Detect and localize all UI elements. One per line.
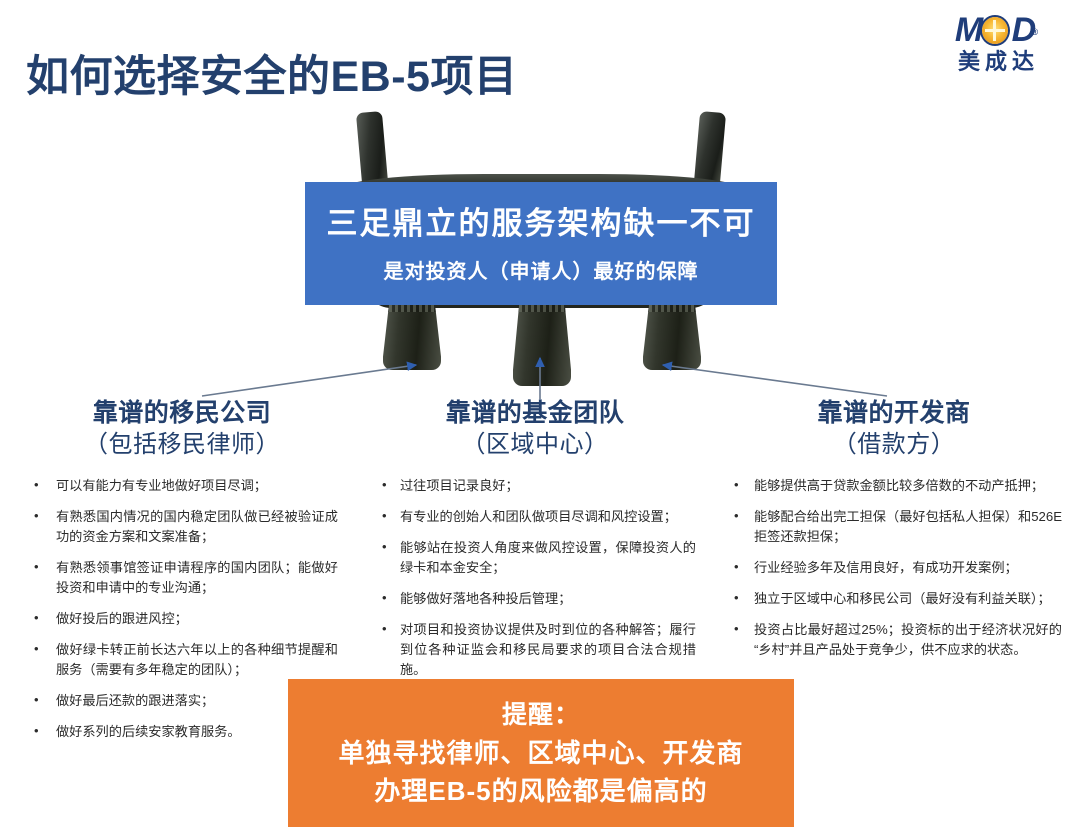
list-item: 行业经验多年及信用良好，有成功开发案例； [726,558,1062,578]
column-3-heading: 靠谱的开发商 （借款方） [726,398,1062,460]
column-1-heading-main: 靠谱的移民公司 [26,398,338,428]
blue-banner: 三足鼎立的服务架构缺一不可 是对投资人（申请人）最好的保障 [305,182,777,305]
list-item: 独立于区域中心和移民公司（最好没有利益关联）； [726,589,1062,609]
callout-line-3: 办理EB-5的风险都是偏高的 [374,772,707,810]
page-title: 如何选择安全的EB-5项目 [26,42,517,104]
list-item: 可以有能力有专业地做好项目尽调； [26,476,338,496]
list-item: 有熟悉领事馆签证申请程序的国内团队；能做好投资和申请中的专业沟通； [26,558,338,598]
list-item: 投资占比最好超过25%；投资标的出于经济状况好的“乡村”并且产品处于竞争少，供不… [726,620,1062,660]
ding-handle-left [356,111,388,185]
column-2-heading: 靠谱的基金团队 （区域中心） [374,398,696,460]
list-item: 能够配合给出完工担保（最好包括私人担保）和526E 拒签还款担保； [726,507,1062,547]
banner-subline: 是对投资人（申请人）最好的保障 [384,255,699,284]
column-3-bullet-list: 能够提供高于贷款金额比较多倍数的不动产抵押； 能够配合给出完工担保（最好包括私人… [726,476,1062,660]
slide-canvas: 如何选择安全的EB-5项目 MOD ® 美成达 三足鼎立的服务架构缺一不可 是对… [0,0,1080,835]
ding-leg-right [643,296,701,370]
callout-line-1: 提醒： [502,696,580,734]
list-item: 能够站在投资人角度来做风控设置，保障投资人的绿卡和本金安全； [374,538,696,578]
ding-leg-left [383,296,441,370]
list-item: 做好投后的跟进风控； [26,609,338,629]
ding-handle-right [694,111,726,185]
ding-leg-center [513,296,571,386]
column-2-heading-main: 靠谱的基金团队 [374,398,696,428]
column-2-heading-sub: （区域中心） [374,430,696,460]
column-2-bullet-list: 过往项目记录良好； 有专业的创始人和团队做项目尽调和风控设置； 能够站在投资人角… [374,476,696,680]
list-item: 过往项目记录良好； [374,476,696,496]
brand-logo: MOD ® 美成达 [926,12,1066,82]
orange-reminder-callout: 提醒： 单独寻找律师、区域中心、开发商 办理EB-5的风险都是偏高的 [288,679,794,827]
arrow-to-leg-left [202,365,416,396]
column-3-heading-main: 靠谱的开发商 [726,398,1062,428]
registered-mark: ® [1032,14,1040,50]
column-1-heading-sub: （包括移民律师） [26,430,338,460]
logo-chinese-name: 美成达 [926,49,1066,75]
column-1-heading: 靠谱的移民公司 （包括移民律师） [26,398,338,460]
list-item: 对项目和投资协议提供及时到位的各种解答；履行到位各种证监会和移民局要求的项目合法… [374,620,696,680]
list-item: 有熟悉国内情况的国内稳定团队做已经被验证成功的资金方案和文案准备； [26,507,338,547]
logo-letter-m: M [955,11,984,49]
list-item: 有专业的创始人和团队做项目尽调和风控设置； [374,507,696,527]
list-item: 能够提供高于贷款金额比较多倍数的不动产抵押； [726,476,1062,496]
list-item: 能够做好落地各种投后管理； [374,589,696,609]
banner-headline: 三足鼎立的服务架构缺一不可 [327,204,756,244]
logo-wordmark: MOD ® [955,12,1037,48]
arrow-to-leg-right [663,365,887,396]
column-3-heading-sub: （借款方） [726,430,1062,460]
list-item: 做好绿卡转正前长达六年以上的各种细节提醒和服务（需要有多年稳定的团队）； [26,640,338,680]
callout-line-2: 单独寻找律师、区域中心、开发商 [338,734,743,772]
logo-sun-orb-icon [982,17,1008,44]
